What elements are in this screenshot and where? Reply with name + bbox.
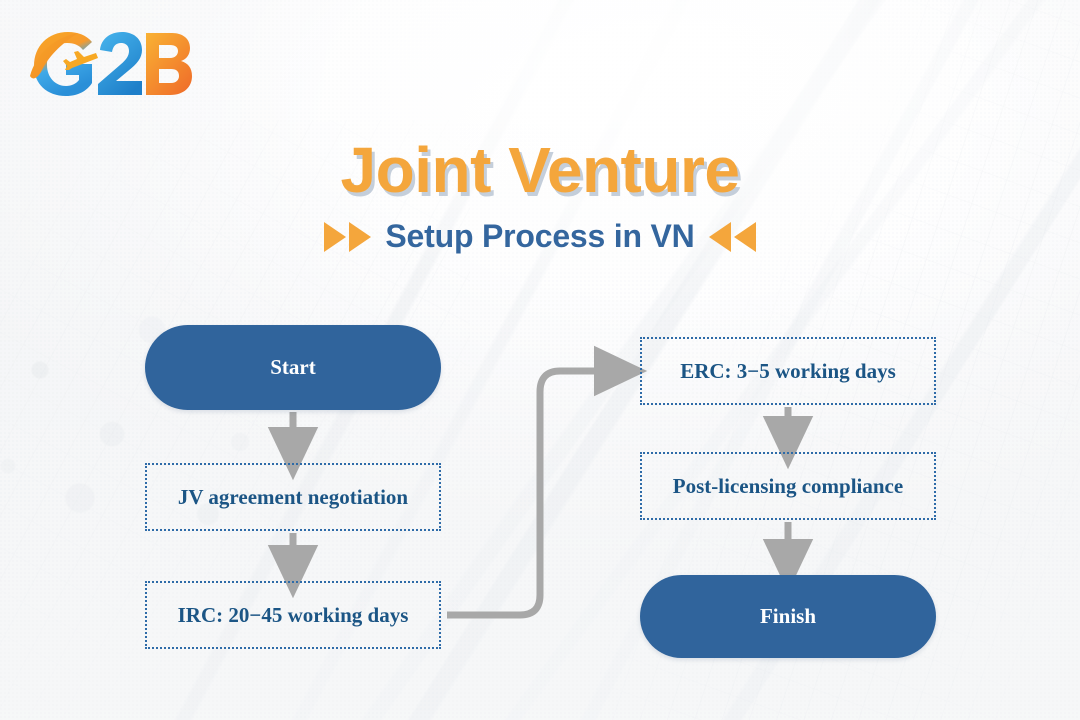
slide-canvas: Joint Venture Setup Process in VN bbox=[0, 0, 1080, 720]
flow-node-start[interactable]: Start bbox=[145, 325, 441, 410]
flow-node-jv-agreement[interactable]: JV agreement negotiation bbox=[145, 463, 441, 531]
flowchart: Start JV agreement negotiation IRC: 20−4… bbox=[0, 0, 1080, 720]
edge-irc-erc bbox=[447, 371, 622, 615]
flow-node-post-licensing[interactable]: Post-licensing compliance bbox=[640, 452, 936, 520]
flow-node-erc[interactable]: ERC: 3−5 working days bbox=[640, 337, 936, 405]
flow-node-finish[interactable]: Finish bbox=[640, 575, 936, 658]
flow-node-irc[interactable]: IRC: 20−45 working days bbox=[145, 581, 441, 649]
